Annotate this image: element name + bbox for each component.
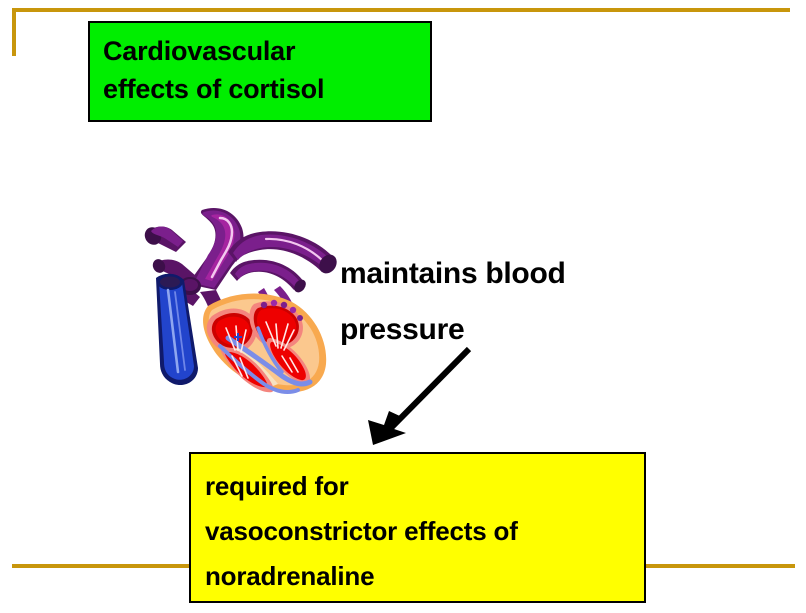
title-line-2: effects of cortisol xyxy=(103,70,430,108)
left-gold-rule xyxy=(12,8,16,56)
heart-body xyxy=(203,293,326,392)
callout-line-1: required for xyxy=(205,464,644,509)
slide-canvas: Cardiovascular effects of cortisol xyxy=(0,0,806,613)
title-box: Cardiovascular effects of cortisol xyxy=(88,21,432,122)
top-gold-rule xyxy=(12,8,790,12)
callout-line-3: noradrenaline xyxy=(205,554,644,599)
callout-line-2: vasoconstrictor effects of xyxy=(205,509,644,554)
title-line-1: Cardiovascular xyxy=(103,32,430,70)
down-left-arrow xyxy=(360,336,485,451)
heart-illustration xyxy=(142,198,340,396)
callout-box: required for vasoconstrictor effects of … xyxy=(189,452,646,603)
middle-text-line-1: maintains blood xyxy=(340,246,670,302)
